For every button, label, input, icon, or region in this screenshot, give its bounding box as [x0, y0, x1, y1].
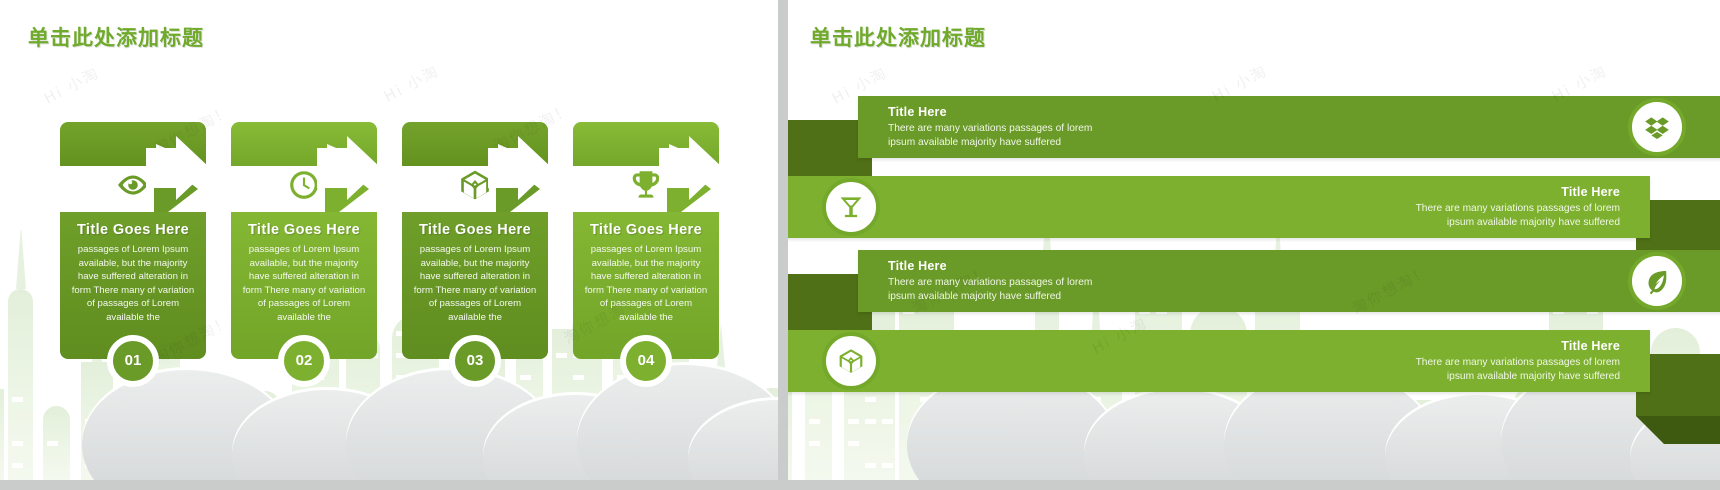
card-number-badge: 04 [620, 335, 672, 387]
ribbon-title: Title Here [1416, 339, 1620, 353]
slide-left[interactable]: 单击此处添加标题 Title Goes Here passages of Lor… [0, 0, 778, 480]
card-number-badge: 01 [107, 335, 159, 387]
watermark: Hi 小淘 [40, 62, 103, 109]
arrow-chevron-icon [659, 134, 739, 234]
building [998, 392, 1025, 480]
card-text: passages of Lorem Ipsum available, but t… [68, 243, 198, 325]
card-text: passages of Lorem Ipsum available, but t… [581, 243, 711, 325]
page-title: 单击此处添加标题 [28, 22, 204, 52]
cloud [483, 395, 668, 480]
ribbon-item[interactable]: Title Here There are many variations pas… [788, 176, 1720, 238]
building [1513, 389, 1542, 480]
building [8, 289, 33, 480]
leaf-icon[interactable] [1628, 252, 1686, 310]
cloud [346, 370, 556, 480]
cloud [577, 365, 778, 480]
cube-icon [458, 168, 492, 207]
ribbon-line-2: ipsum available majority have suffered [1416, 216, 1620, 230]
cocktail-icon[interactable] [822, 178, 880, 236]
building [1304, 407, 1337, 480]
cube-icon[interactable] [822, 332, 880, 390]
clock-icon [287, 168, 321, 207]
arrow-chevron-icon [146, 134, 226, 234]
ribbon-fold [1636, 416, 1720, 444]
ribbon-line-2: ipsum available majority have suffered [888, 290, 1092, 304]
building [0, 389, 4, 480]
cloud [232, 390, 422, 480]
card-number-badge: 03 [449, 335, 501, 387]
ribbon-line-1: There are many variations passages of lo… [1416, 202, 1620, 216]
card-number-badge: 02 [278, 335, 330, 387]
ribbon-line-1: There are many variations passages of lo… [888, 276, 1092, 290]
ribbon-title: Title Here [1416, 185, 1620, 199]
bottom-bar [0, 480, 1720, 490]
arrow-chevron-icon [488, 134, 568, 234]
building [1445, 399, 1501, 480]
ribbon-text: Title Here There are many variations pas… [888, 259, 1092, 303]
building [43, 406, 70, 480]
building [250, 391, 280, 480]
ribbon-line-2: ipsum available majority have suffered [888, 136, 1092, 150]
cloud [1084, 390, 1274, 480]
building-spire [16, 230, 26, 289]
building [745, 388, 778, 480]
ribbon-line-2: ipsum available majority have suffered [1416, 370, 1620, 384]
ribbon-item[interactable]: Title Here There are many variations pas… [788, 330, 1720, 392]
building [1408, 400, 1436, 480]
ribbon-title: Title Here [888, 105, 1092, 119]
card-text: passages of Lorem Ipsum available, but t… [410, 243, 540, 325]
ribbon-text: Title Here There are many variations pas… [888, 105, 1092, 149]
ribbon-line-1: There are many variations passages of lo… [888, 122, 1092, 136]
building [81, 362, 113, 480]
slides-stage: 单击此处添加标题 Title Goes Here passages of Lor… [0, 0, 1720, 490]
building [700, 378, 741, 480]
cloud [1385, 395, 1570, 480]
dropbox-icon[interactable] [1628, 98, 1686, 156]
ribbon-item[interactable]: Title Here There are many variations pas… [788, 250, 1720, 312]
cloud [82, 370, 292, 480]
cloud [688, 400, 778, 480]
page-title: 单击此处添加标题 [810, 22, 986, 52]
ribbon-item[interactable]: Title Here There are many variations pas… [788, 96, 1720, 158]
trophy-icon [629, 168, 663, 207]
eye-icon [116, 168, 150, 207]
building [962, 404, 986, 480]
card-text: passages of Lorem Ipsum available, but t… [239, 243, 369, 325]
ribbon-text: Title Here There are many variations pas… [1416, 185, 1620, 229]
arrow-chevron-icon [317, 134, 397, 234]
slide-divider [778, 0, 788, 490]
ribbon-text: Title Here There are many variations pas… [1416, 339, 1620, 383]
watermark: Hi 小淘 [380, 60, 443, 107]
slide-right[interactable]: 单击此处添加标题 Title Here There are many varia… [788, 0, 1720, 480]
ribbon-title: Title Here [888, 259, 1092, 273]
building [190, 410, 245, 480]
ribbon-line-1: There are many variations passages of lo… [1416, 356, 1620, 370]
